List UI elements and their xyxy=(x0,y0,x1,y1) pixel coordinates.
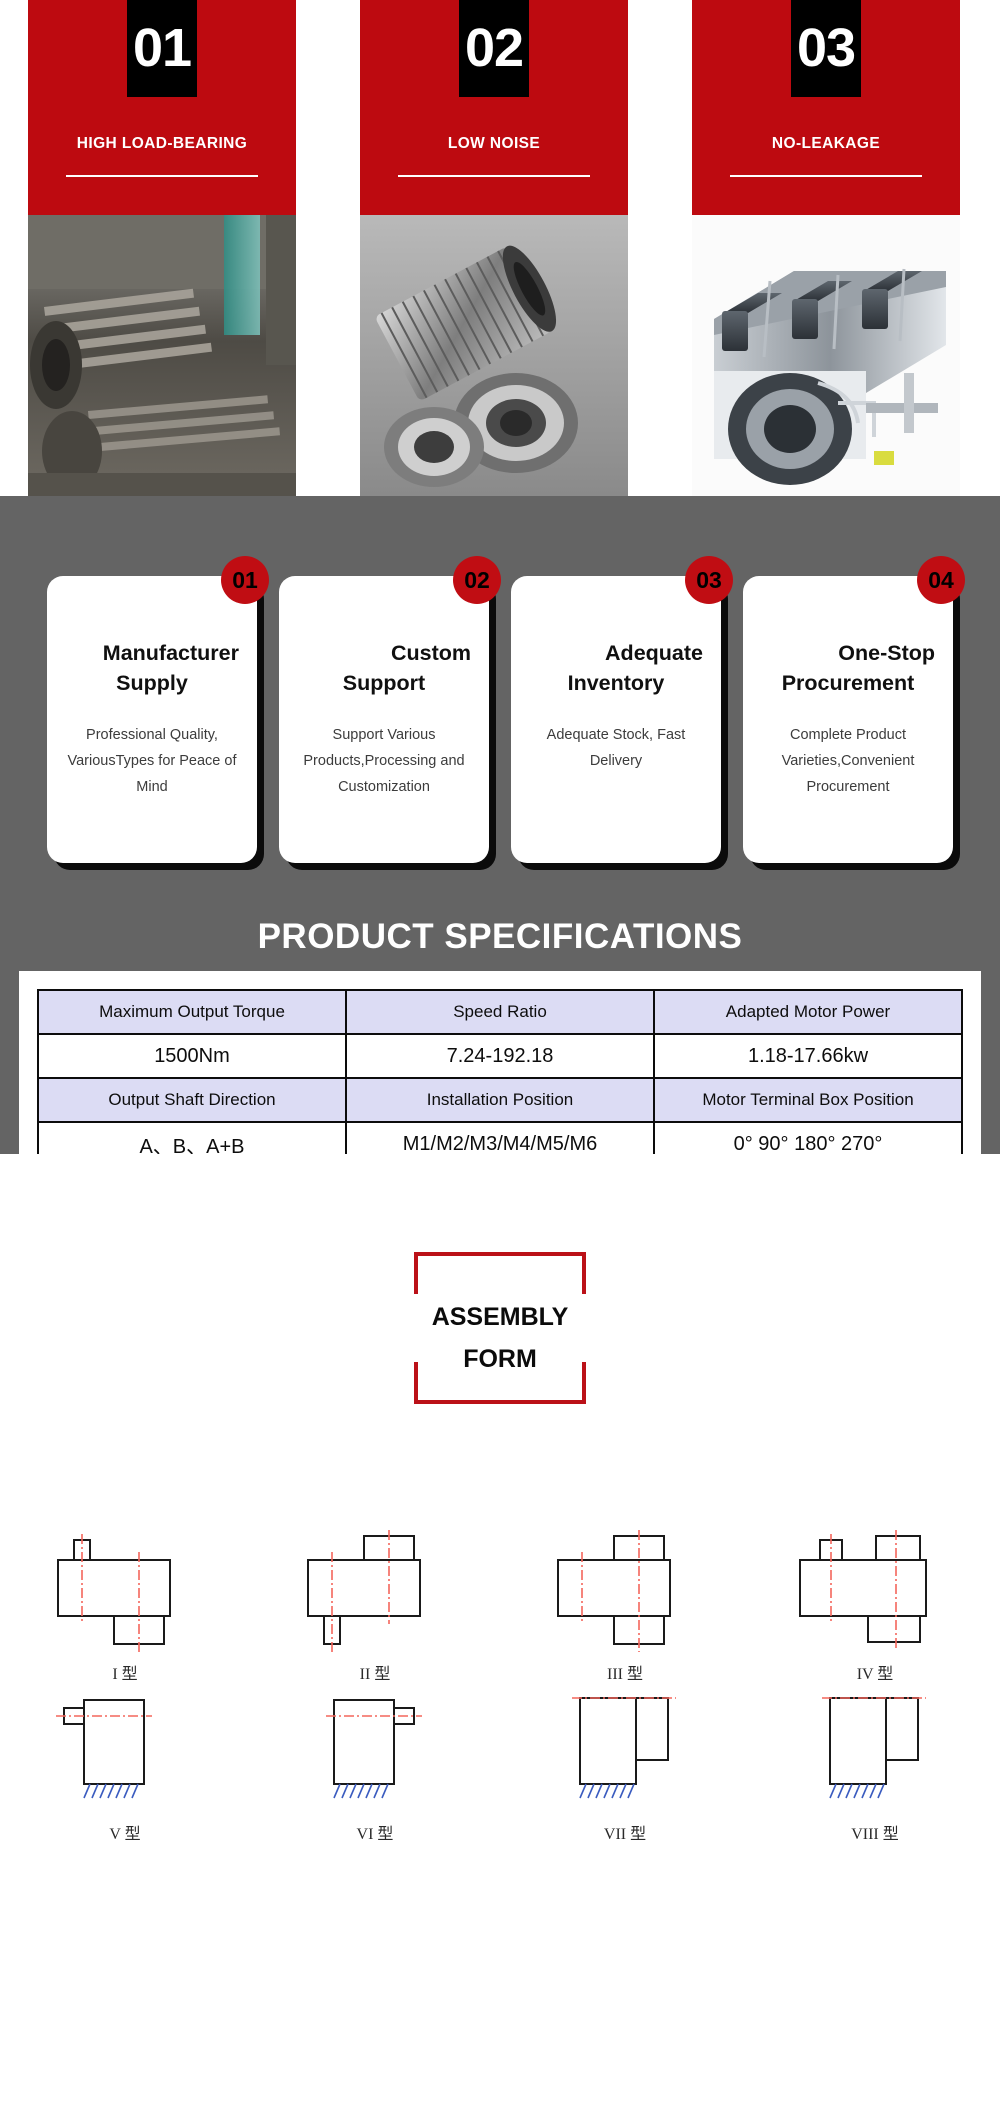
assembly-diagram-vi xyxy=(290,1684,460,1814)
feature-card-description: Professional Quality, VariousTypes for P… xyxy=(63,722,241,800)
assembly-form-section: ASSEMBLY FORM I 型 xyxy=(0,1154,1000,2101)
table-value-cell: 7.24-192.18 xyxy=(346,1034,654,1078)
feature-card-badge: 04 xyxy=(917,556,965,604)
assembly-diagram-cell: VI 型 xyxy=(250,1684,500,1844)
hero-number-badge: 03 xyxy=(791,0,861,97)
feature-card-badge: 03 xyxy=(685,556,733,604)
feature-card-title-line2: Procurement xyxy=(759,668,937,698)
feature-card-title-line1: One-Stop xyxy=(759,638,937,668)
gearbox-housing-photo xyxy=(692,215,960,496)
feature-cards: 01 Manufacturer Supply Professional Qual… xyxy=(0,576,1000,863)
feature-card-badge: 02 xyxy=(453,556,501,604)
feature-card-description: Adequate Stock, Fast Delivery xyxy=(527,722,705,774)
assembly-diagram-iv xyxy=(790,1524,960,1654)
feature-card-description: Complete Product Varieties,Convenient Pr… xyxy=(759,722,937,800)
frame-segment-top xyxy=(414,1252,586,1256)
table-row: Output Shaft Direction Installation Posi… xyxy=(38,1078,962,1122)
assembly-diagram-ii xyxy=(290,1524,460,1654)
assembly-diagram-label: VI 型 xyxy=(250,1820,500,1844)
assembly-diagram-cell: V 型 xyxy=(0,1684,250,1844)
feature-card[interactable]: 01 Manufacturer Supply Professional Qual… xyxy=(47,576,257,863)
feature-card-title: Manufacturer Supply xyxy=(63,638,241,698)
feature-card-description: Support Various Products,Processing and … xyxy=(295,722,473,800)
feature-card-title: Custom Support xyxy=(295,638,473,698)
feature-card-badge: 01 xyxy=(221,556,269,604)
feature-card-title: One-Stop Procurement xyxy=(759,638,937,698)
assembly-title-line1: ASSEMBLY xyxy=(384,1296,616,1338)
feature-card-title: Adequate Inventory xyxy=(527,638,705,698)
hero-divider xyxy=(730,175,922,177)
features-and-specs-section: 01 Manufacturer Supply Professional Qual… xyxy=(0,496,1000,1154)
hero-red-block: 01 HIGH LOAD-BEARING xyxy=(28,0,296,215)
feature-card-title-line1: Custom xyxy=(295,638,473,668)
assembly-diagram-viii xyxy=(790,1684,960,1814)
feature-card-title-line2: Support xyxy=(295,668,473,698)
assembly-title-block: ASSEMBLY FORM xyxy=(414,1154,586,1404)
hero-number-badge: 02 xyxy=(459,0,529,97)
assembly-diagram-label: II 型 xyxy=(250,1660,500,1684)
table-value-cell: 1500Nm xyxy=(38,1034,346,1078)
frame-segment-top-right xyxy=(582,1252,586,1294)
table-header-cell: Motor Terminal Box Position xyxy=(654,1078,962,1122)
hero-panel-title: NO-LEAKAGE xyxy=(692,135,960,153)
assembly-diagram-cell: III 型 xyxy=(500,1524,750,1684)
assembly-diagram-cell: I 型 xyxy=(0,1524,250,1684)
assembly-diagram-cell: II 型 xyxy=(250,1524,500,1684)
feature-card-title-line1: Adequate xyxy=(527,638,705,668)
assembly-diagram-cell: VIII 型 xyxy=(750,1684,1000,1844)
assembly-diagram-vii xyxy=(540,1684,710,1814)
table-header-cell: Output Shaft Direction xyxy=(38,1078,346,1122)
hero-panel: 03 NO-LEAKAGE xyxy=(692,0,960,496)
product-detail-page: 01 HIGH LOAD-BEARING xyxy=(0,0,1000,2101)
assembly-title: ASSEMBLY FORM xyxy=(384,1296,616,1380)
specifications-heading: PRODUCT SPECIFICATIONS xyxy=(0,917,1000,957)
hero-red-block: 02 LOW NOISE xyxy=(360,0,628,215)
feature-card-title-line2: Inventory xyxy=(527,668,705,698)
feature-card[interactable]: 02 Custom Support Support Various Produc… xyxy=(279,576,489,863)
helical-gear-shafts-photo xyxy=(28,215,296,496)
assembly-diagram-cell: IV 型 xyxy=(750,1524,1000,1684)
table-header-cell: Speed Ratio xyxy=(346,990,654,1034)
feature-card-title-line2: Supply xyxy=(63,668,241,698)
table-header-cell: Maximum Output Torque xyxy=(38,990,346,1034)
assembly-diagram-label: I 型 xyxy=(0,1660,250,1684)
frame-segment-top-left xyxy=(414,1252,418,1294)
hero-divider xyxy=(398,175,590,177)
feature-card-title-line1: Manufacturer xyxy=(63,638,241,668)
table-value-cell: 1.18-17.66kw xyxy=(654,1034,962,1078)
table-row: 1500Nm 7.24-192.18 1.18-17.66kw xyxy=(38,1034,962,1078)
hero-banner: 01 HIGH LOAD-BEARING xyxy=(0,0,1000,496)
feature-card[interactable]: 03 Adequate Inventory Adequate Stock, Fa… xyxy=(511,576,721,863)
assembly-title-line2: FORM xyxy=(384,1338,616,1380)
assembly-diagram-v xyxy=(40,1684,210,1814)
hero-panel: 02 LOW NOISE xyxy=(360,0,628,496)
feature-card[interactable]: 04 One-Stop Procurement Complete Product… xyxy=(743,576,953,863)
assembly-diagram-iii xyxy=(540,1524,710,1654)
assembly-diagram-label: VIII 型 xyxy=(750,1820,1000,1844)
assembly-diagram-label: VII 型 xyxy=(500,1820,750,1844)
hero-number-badge: 01 xyxy=(127,0,197,97)
frame-segment-bottom xyxy=(414,1400,586,1404)
hero-panel-title: HIGH LOAD-BEARING xyxy=(28,135,296,153)
assembly-diagram-label: IV 型 xyxy=(750,1660,1000,1684)
hero-divider xyxy=(66,175,258,177)
assembly-diagram-i xyxy=(40,1524,210,1654)
table-header-cell: Adapted Motor Power xyxy=(654,990,962,1034)
hero-panel: 01 HIGH LOAD-BEARING xyxy=(28,0,296,496)
assembly-diagram-label: III 型 xyxy=(500,1660,750,1684)
assembly-diagram-grid: I 型 II 型 xyxy=(0,1524,1000,1844)
table-row: Maximum Output Torque Speed Ratio Adapte… xyxy=(38,990,962,1034)
hero-red-block: 03 NO-LEAKAGE xyxy=(692,0,960,215)
table-header-cell: Installation Position xyxy=(346,1078,654,1122)
assembly-diagram-label: V 型 xyxy=(0,1820,250,1844)
assembly-diagram-cell: VII 型 xyxy=(500,1684,750,1844)
gear-rings-bearings-photo xyxy=(360,215,628,496)
specifications-table: Maximum Output Torque Speed Ratio Adapte… xyxy=(37,989,963,1167)
assembly-title-frame: ASSEMBLY FORM xyxy=(414,1252,586,1404)
hero-panel-title: LOW NOISE xyxy=(360,135,628,153)
